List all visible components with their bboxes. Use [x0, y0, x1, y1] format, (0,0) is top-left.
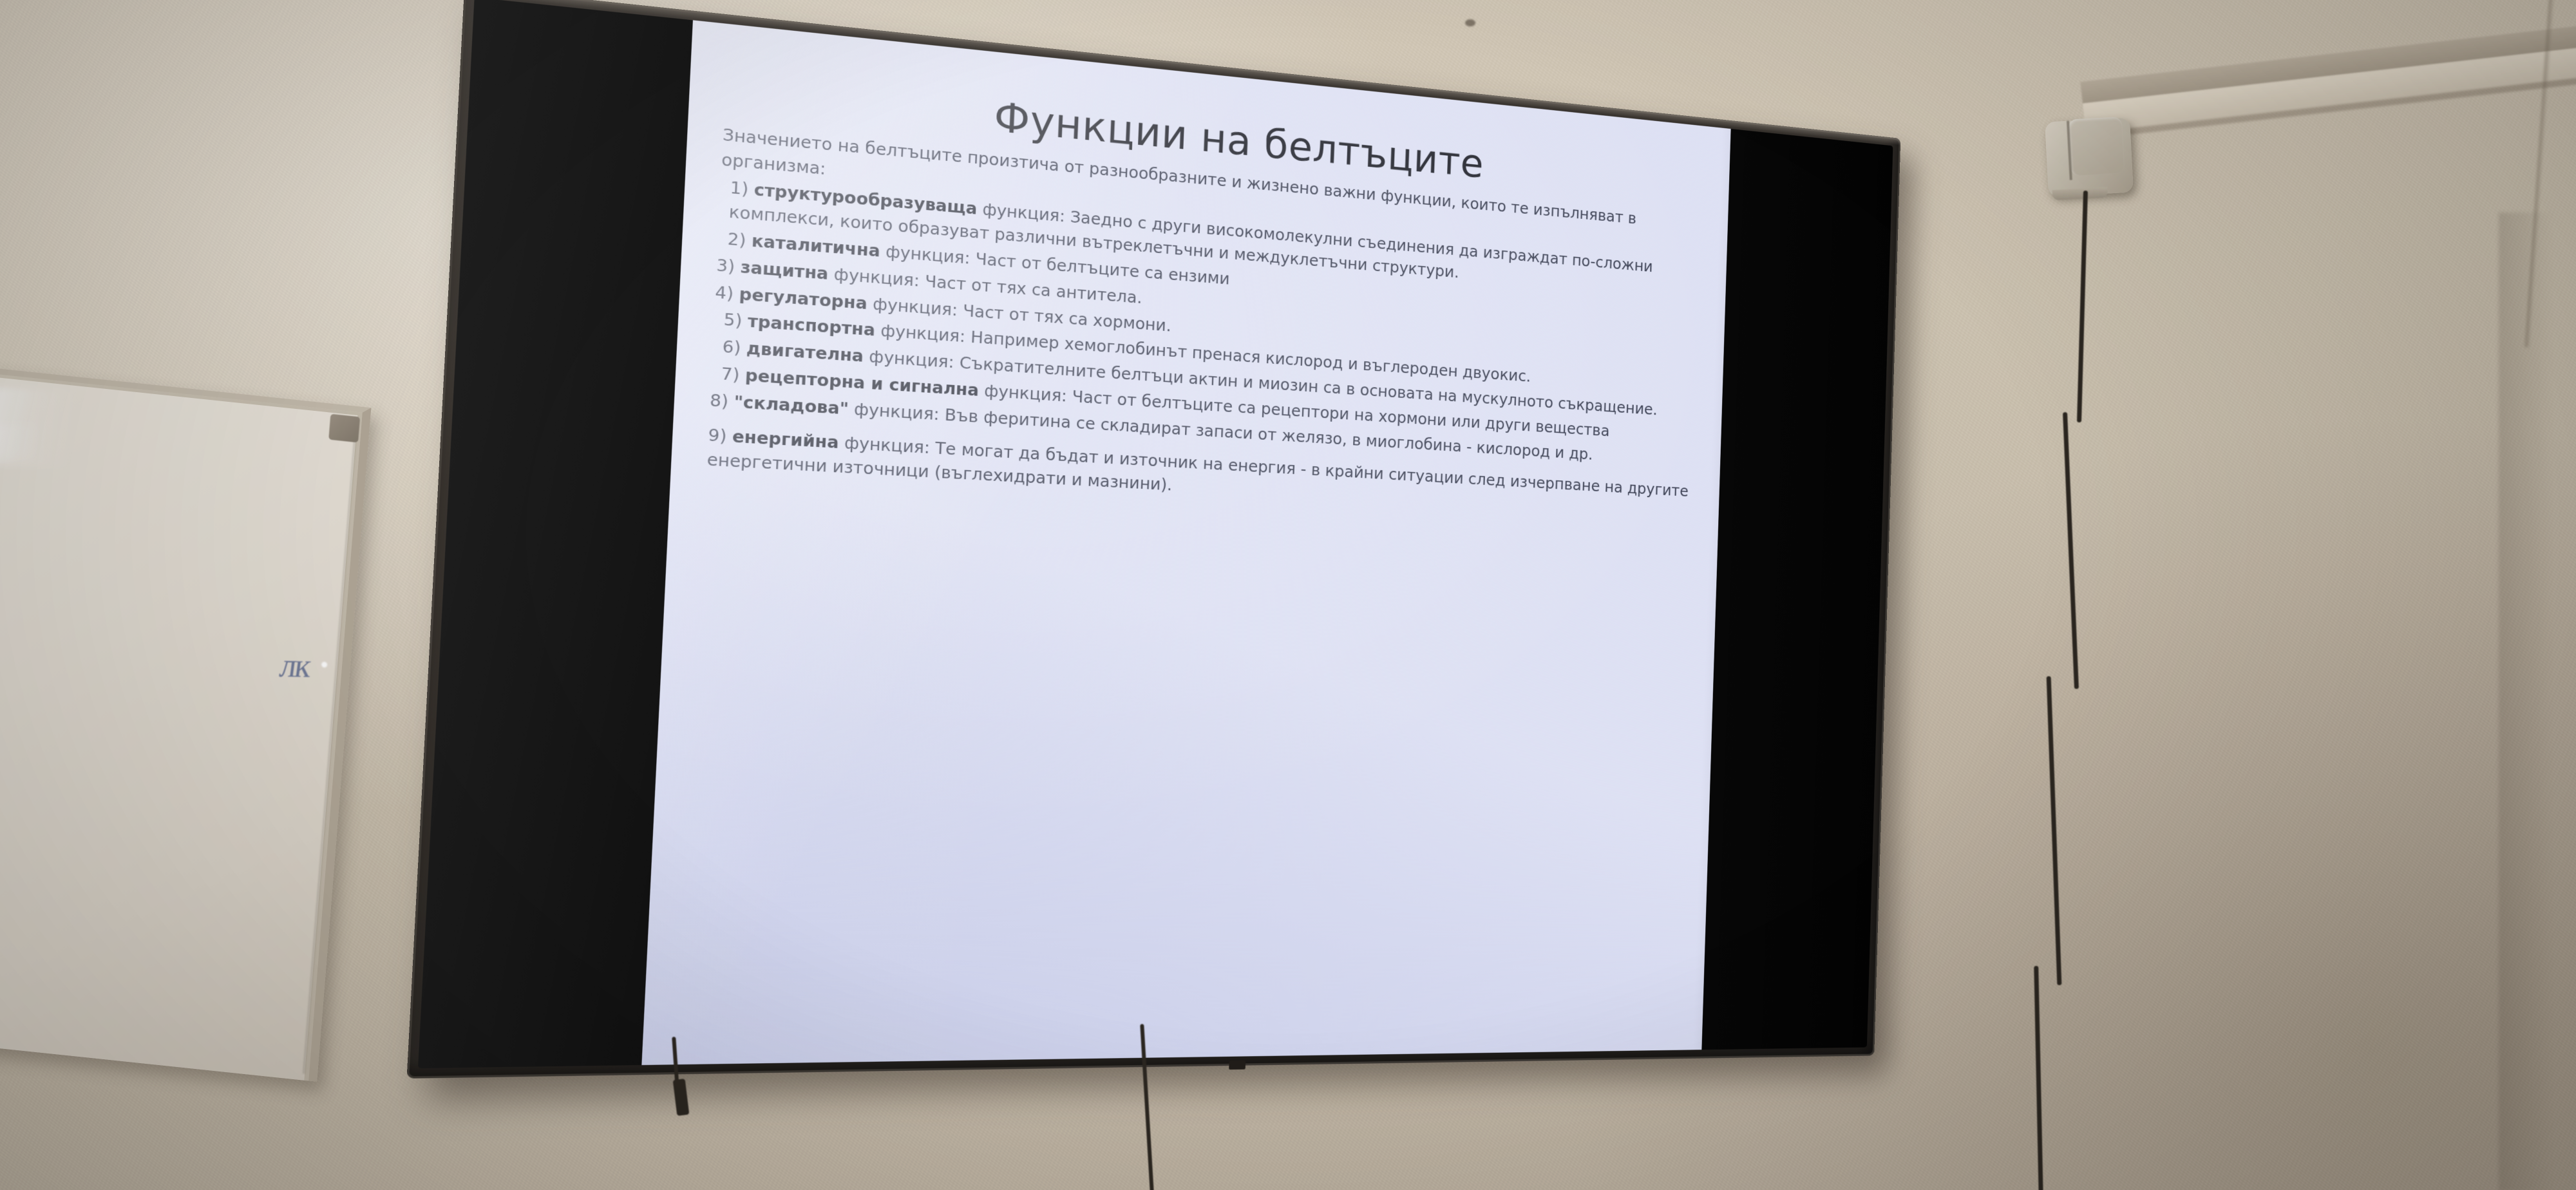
scene-vignette: [0, 0, 2576, 1190]
classroom-scene: лк Функции на белтъците Значението на б: [0, 0, 2576, 1190]
